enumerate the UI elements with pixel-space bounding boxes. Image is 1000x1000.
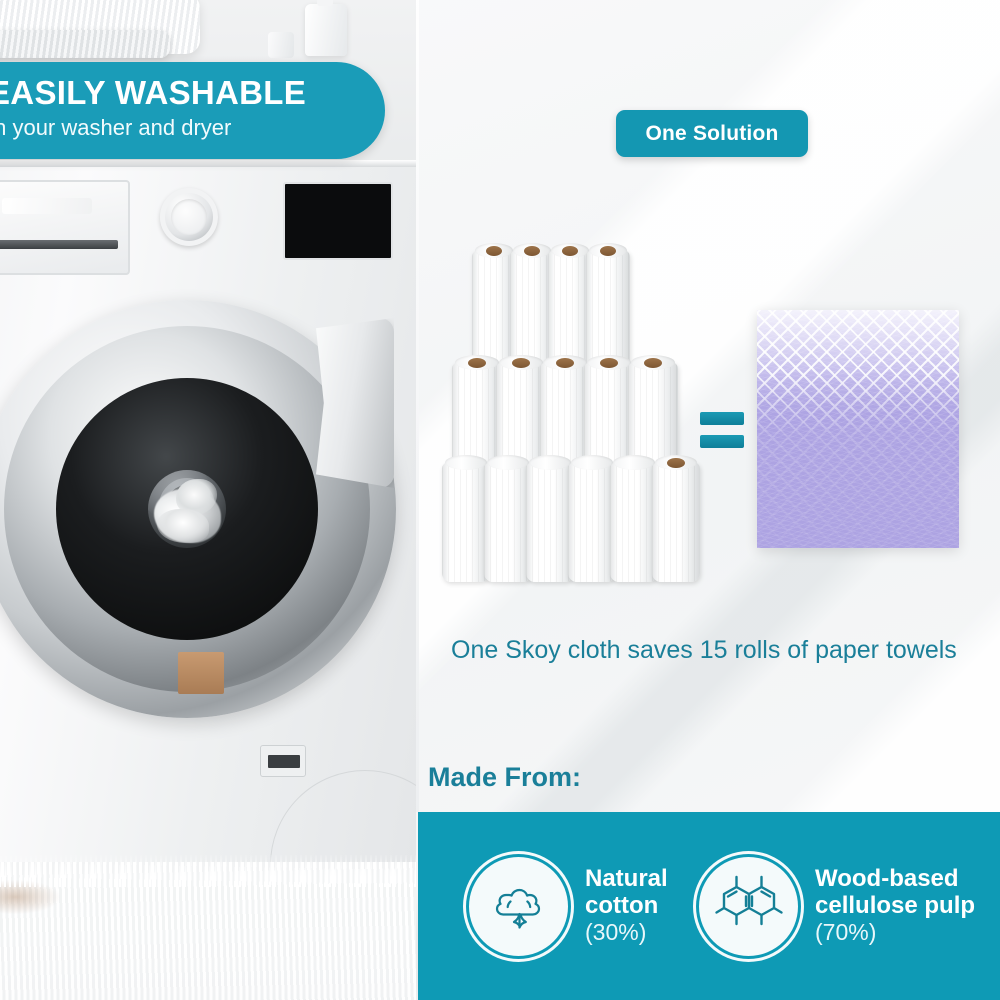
roll-cardboard-core xyxy=(486,246,502,256)
paper-towel-stack xyxy=(448,240,700,585)
drawer-highlight xyxy=(2,198,92,214)
infographic-root: EASILY WASHABLE In your washer and dryer… xyxy=(0,0,1000,1000)
made-from-label: Made From: xyxy=(428,762,581,793)
roll-cardboard-core xyxy=(524,246,540,256)
cotton-boll-icon-circle xyxy=(466,854,571,959)
easily-washable-subtitle: In your washer and dryer xyxy=(0,113,385,143)
roll-cardboard-core xyxy=(600,246,616,256)
door-glass xyxy=(148,470,226,548)
roll-top-rim xyxy=(571,455,613,470)
cloth-fiber-texture xyxy=(757,310,959,548)
roll-cardboard-core xyxy=(562,246,578,256)
door-handle xyxy=(316,318,394,488)
roll-top-rim xyxy=(445,455,487,470)
ingredient-natural-cotton: Natural cotton (30%) xyxy=(466,854,668,959)
washing-machine-photo: EASILY WASHABLE In your washer and dryer xyxy=(0,0,416,1000)
panel-divider xyxy=(416,0,419,812)
paper-towel-roll xyxy=(652,462,700,582)
easily-washable-title: EASILY WASHABLE xyxy=(0,73,385,113)
paper-towel-roll xyxy=(442,462,490,582)
machine-top-edge xyxy=(0,160,416,167)
pulp-name-line1: Wood-based xyxy=(815,866,975,893)
ingredient-cellulose-pulp: Wood-based cellulose pulp (70%) xyxy=(696,854,975,959)
one-solution-label: One Solution xyxy=(645,122,778,146)
machine-display xyxy=(283,182,393,260)
skoy-cloth-image xyxy=(757,310,959,548)
roll-cardboard-core xyxy=(644,358,662,368)
paper-towel-roll xyxy=(610,462,658,582)
program-knob xyxy=(160,188,218,246)
cotton-name-line2: cotton xyxy=(585,893,668,920)
rug-fringe xyxy=(0,855,416,887)
machine-filter-hatch xyxy=(260,745,306,777)
pulp-name-line2: cellulose pulp xyxy=(815,893,975,920)
one-solution-badge: One Solution xyxy=(616,110,808,157)
cotton-text-block: Natural cotton (30%) xyxy=(585,866,668,948)
equals-bar-top xyxy=(700,412,744,425)
detergent-jar xyxy=(268,32,294,58)
cotton-boll-icon xyxy=(486,874,552,940)
roll-top-rim xyxy=(529,455,571,470)
detergent-bottle xyxy=(305,4,347,56)
pulp-percent: (70%) xyxy=(815,920,975,946)
cotton-name-line1: Natural xyxy=(585,866,668,893)
detergent-drawer xyxy=(0,180,130,275)
equals-bar-bottom xyxy=(700,435,744,448)
cellulose-molecule-icon xyxy=(714,872,784,942)
roll-cardboard-core xyxy=(600,358,618,368)
roll-top-rim xyxy=(613,455,655,470)
equals-icon xyxy=(700,408,744,452)
folded-towel-secondary xyxy=(0,30,170,58)
door-chrome-ring xyxy=(4,326,370,692)
paper-towel-roll xyxy=(526,462,574,582)
easily-washable-badge: EASILY WASHABLE In your washer and dryer xyxy=(0,62,385,159)
cotton-percent: (30%) xyxy=(585,920,668,946)
roll-cardboard-core xyxy=(556,358,574,368)
made-from-bar: Natural cotton (30%) xyxy=(418,812,1000,1000)
paper-towel-roll xyxy=(568,462,616,582)
door-gasket xyxy=(56,378,318,640)
cellulose-molecule-icon-circle xyxy=(696,854,801,959)
roll-cardboard-core xyxy=(667,458,684,468)
pulp-text-block: Wood-based cellulose pulp (70%) xyxy=(815,866,975,948)
roll-cardboard-core xyxy=(468,358,486,368)
roll-top-rim xyxy=(487,455,529,470)
savings-caption: One Skoy cloth saves 15 rolls of paper t… xyxy=(451,636,981,665)
drawer-slot xyxy=(0,240,118,249)
paper-towel-roll xyxy=(484,462,532,582)
roll-cardboard-core xyxy=(512,358,530,368)
door-latch xyxy=(178,652,224,694)
